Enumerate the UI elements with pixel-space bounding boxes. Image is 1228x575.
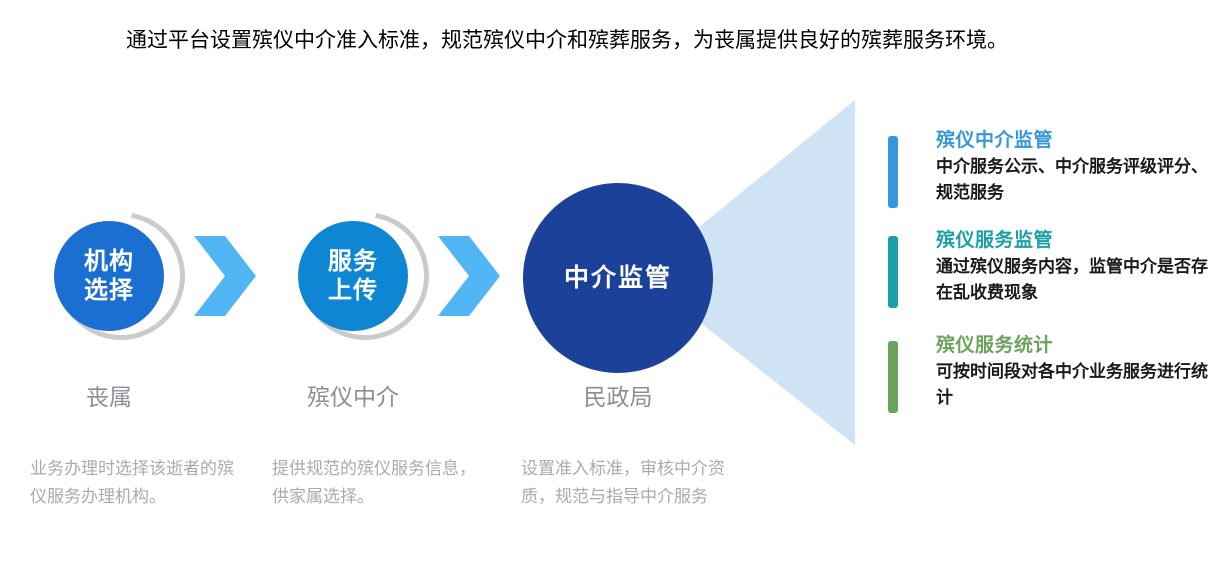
step-1-circle-line2: 选择	[84, 276, 134, 305]
step-2-label: 殡仪中介	[298, 378, 408, 412]
arrow-chevron-1	[194, 236, 256, 316]
feature-item-2[interactable]: 殡仪服务监管 通过殡仪服务内容，监管中介是否存在乱收费现象	[888, 228, 1218, 306]
feature-1-title: 殡仪中介监管	[936, 128, 1218, 154]
step-1-circle-line1: 机构	[84, 247, 134, 276]
step-2-circle-line2: 上传	[328, 276, 378, 305]
step-3-circle-line1: 中介监管	[564, 263, 672, 294]
step-2-circle-line1: 服务	[328, 247, 378, 276]
feature-3-body: 可按时间段对各中介业务服务进行统计	[936, 359, 1218, 411]
step-1-label: 丧属	[54, 378, 164, 412]
feature-2-body: 通过殡仪服务内容，监管中介是否存在乱收费现象	[936, 254, 1218, 306]
step-2-circle[interactable]: 服务 上传	[298, 221, 408, 331]
step-1-description: 业务办理时选择该逝者的殡仪服务办理机构。	[30, 455, 235, 511]
feature-1-body: 中介服务公示、中介服务评级评分、规范服务	[936, 154, 1218, 206]
feature-item-3[interactable]: 殡仪服务统计 可按时间段对各中介业务服务进行统计	[888, 333, 1218, 411]
intro-paragraph: 通过平台设置殡仪中介准入标准，规范殡仪中介和殡葬服务，为丧属提供良好的殡葬服务环…	[60, 24, 1210, 58]
step-3-label: 民政局	[523, 378, 713, 412]
arrow-chevron-2	[438, 236, 500, 316]
step-2-description: 提供规范的殡仪服务信息，供家属选择。	[272, 455, 477, 511]
feature-3-title: 殡仪服务统计	[936, 333, 1218, 359]
step-3-circle[interactable]: 中介监管	[523, 183, 713, 373]
feature-item-1[interactable]: 殡仪中介监管 中介服务公示、中介服务评级评分、规范服务	[888, 128, 1218, 206]
feature-2-accent-bar	[888, 236, 898, 308]
diagram-canvas: 通过平台设置殡仪中介准入标准，规范殡仪中介和殡葬服务，为丧属提供良好的殡葬服务环…	[0, 0, 1228, 575]
step-3-description: 设置准入标准，审核中介资质，规范与指导中介服务	[521, 455, 736, 511]
feature-1-accent-bar	[888, 136, 898, 208]
feature-2-title: 殡仪服务监管	[936, 228, 1218, 254]
step-1-circle[interactable]: 机构 选择	[54, 221, 164, 331]
feature-3-accent-bar	[888, 341, 898, 413]
